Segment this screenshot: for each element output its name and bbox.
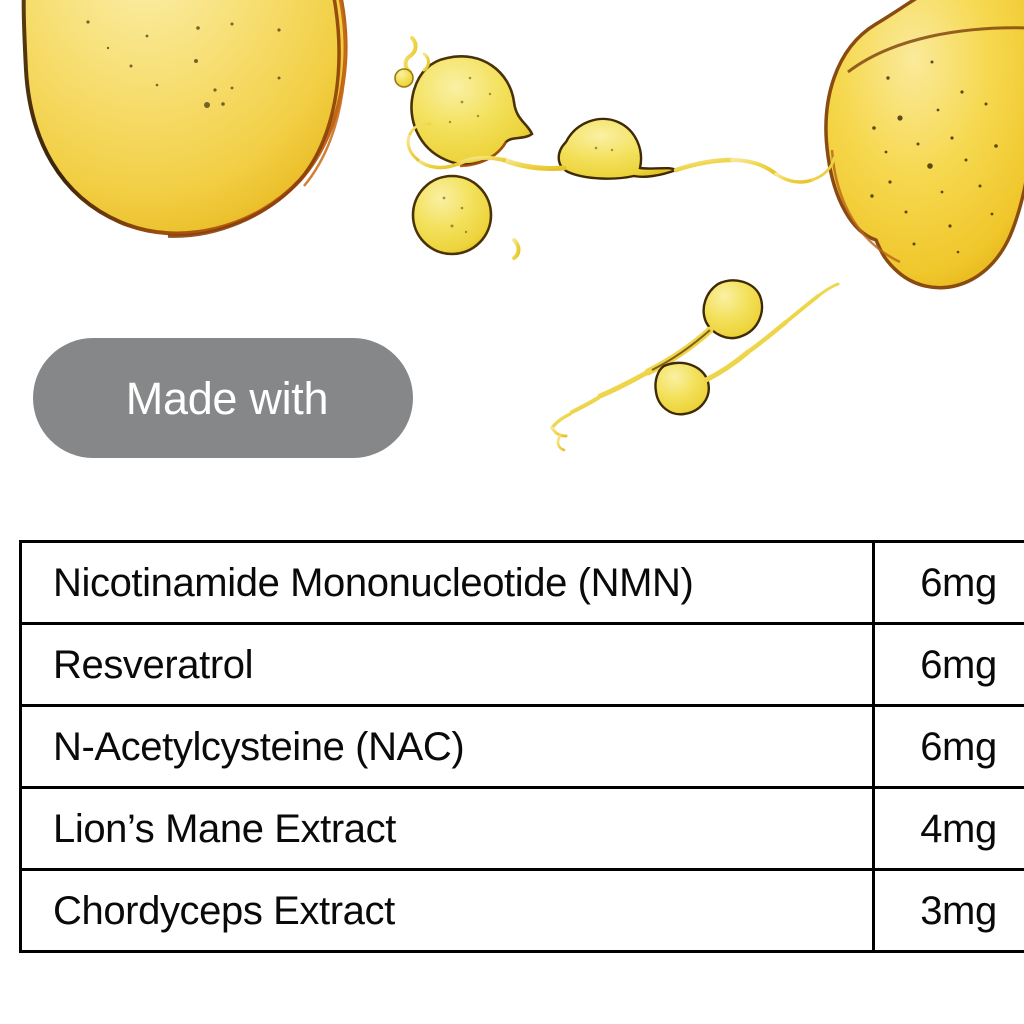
droplet-mid-upper	[412, 56, 532, 166]
table-row: Resveratrol 6mg	[21, 624, 1024, 706]
table-row: Nicotinamide Mononucleotide (NMN) 6mg	[21, 542, 1024, 624]
made-with-badge: Made with	[33, 338, 413, 458]
ingredient-amount: 6mg	[874, 706, 1024, 788]
ingredient-name: Chordyceps Extract	[21, 870, 874, 952]
ingredient-amount: 4mg	[874, 788, 1024, 870]
product-ingredients-panel: Made with Nicotinamide Mononucleotide (N…	[0, 0, 1024, 1024]
ingredient-amount: 6mg	[874, 542, 1024, 624]
table-row: N-Acetylcysteine (NAC) 6mg	[21, 706, 1024, 788]
droplet-large-left	[24, 0, 346, 236]
ingredient-name: Resveratrol	[21, 624, 874, 706]
droplet-tiny-2	[514, 240, 519, 258]
droplet-mid-lower-left	[413, 176, 491, 254]
ingredients-table-body: Nicotinamide Mononucleotide (NMN) 6mg Re…	[21, 542, 1024, 952]
droplet-tiny-1	[395, 69, 413, 87]
ingredient-name: Nicotinamide Mononucleotide (NMN)	[21, 542, 874, 624]
ingredients-table: Nicotinamide Mononucleotide (NMN) 6mg Re…	[19, 540, 1024, 953]
ingredient-amount: 6mg	[874, 624, 1024, 706]
droplet-small-specks	[406, 38, 429, 72]
table-row: Lion’s Mane Extract 4mg	[21, 788, 1024, 870]
made-with-label: Made with	[126, 376, 328, 421]
table-row: Chordyceps Extract 3mg	[21, 870, 1024, 952]
droplet-large-right	[826, 0, 1024, 288]
ingredient-amount: 3mg	[874, 870, 1024, 952]
droplet-lower-pair	[552, 280, 838, 450]
ingredient-name: N-Acetylcysteine (NAC)	[21, 706, 874, 788]
ingredient-name: Lion’s Mane Extract	[21, 788, 874, 870]
